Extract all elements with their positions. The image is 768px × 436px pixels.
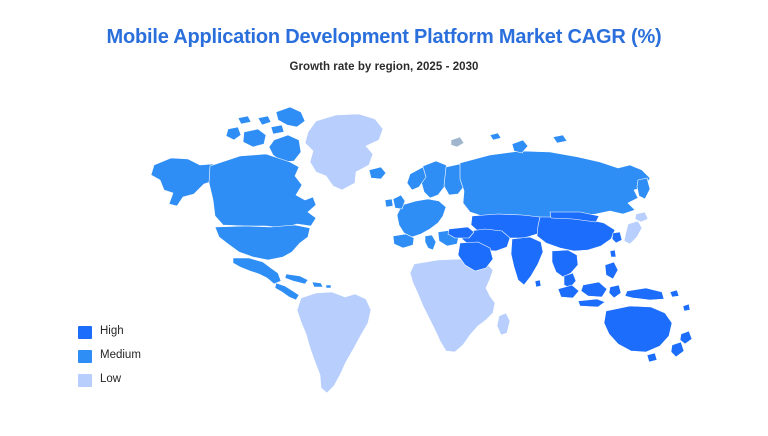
region-italy xyxy=(425,235,436,250)
map-legend: High Medium Low xyxy=(78,320,141,392)
region-arctic-islet-a xyxy=(258,116,271,125)
region-united-states xyxy=(215,225,310,260)
region-fiji-islets xyxy=(683,304,690,311)
region-tasmania xyxy=(647,353,657,362)
region-ireland xyxy=(385,199,393,207)
legend-item-medium[interactable]: Medium xyxy=(78,344,141,368)
region-japan xyxy=(624,221,642,244)
region-turkey xyxy=(448,227,474,238)
region-sri-lanka xyxy=(535,280,541,287)
region-india xyxy=(511,237,543,285)
region-arctic-islet-b xyxy=(238,116,251,124)
region-iberia xyxy=(393,234,414,248)
page-title: Mobile Application Development Platform … xyxy=(0,26,768,49)
region-borneo xyxy=(581,282,607,297)
region-southeast-asia xyxy=(552,250,578,277)
region-hokkaido xyxy=(635,212,648,222)
chart-canvas: Mobile Application Development Platform … xyxy=(0,0,768,436)
region-pacific-islets xyxy=(670,290,679,297)
region-severnaya-zemlya xyxy=(553,135,567,143)
region-australia xyxy=(604,306,672,352)
region-taiwan xyxy=(610,250,616,257)
region-new-zealand-north xyxy=(680,331,692,344)
region-south-america xyxy=(297,292,371,393)
region-greenland xyxy=(305,114,383,190)
legend-item-low[interactable]: Low xyxy=(78,368,141,392)
region-puerto-rico xyxy=(326,285,331,288)
legend-label-low: Low xyxy=(100,374,121,386)
legend-label-medium: Medium xyxy=(100,350,141,362)
region-sulawesi xyxy=(609,285,621,298)
legend-swatch-medium xyxy=(78,350,92,363)
region-iceland xyxy=(369,167,386,179)
region-new-guinea xyxy=(625,288,664,300)
region-hispaniola xyxy=(312,282,323,287)
legend-swatch-high xyxy=(78,326,92,339)
region-svalbard xyxy=(451,137,464,147)
region-madagascar xyxy=(497,313,510,335)
region-canada xyxy=(209,154,316,228)
region-new-zealand-south xyxy=(671,342,684,357)
region-africa xyxy=(410,259,495,352)
region-mexico xyxy=(233,258,281,284)
region-franz-josef-land xyxy=(490,133,501,140)
legend-label-high: High xyxy=(100,326,124,338)
page-subtitle: Growth rate by region, 2025 - 2030 xyxy=(0,61,768,73)
legend-item-high[interactable]: High xyxy=(78,320,141,344)
legend-swatch-low xyxy=(78,374,92,387)
region-korea xyxy=(612,232,622,243)
region-arctic-islet-c xyxy=(271,125,284,134)
region-russia xyxy=(460,151,650,220)
region-ellesmere xyxy=(276,107,305,127)
region-china xyxy=(537,217,615,251)
world-map-svg xyxy=(140,92,700,412)
world-choropleth-map xyxy=(140,92,700,412)
region-western-europe xyxy=(397,199,446,237)
region-java xyxy=(578,299,605,307)
region-central-america xyxy=(275,283,299,300)
region-cuba xyxy=(285,274,308,284)
region-victoria-island xyxy=(243,129,266,147)
region-sumatra xyxy=(558,285,579,298)
region-banks-island xyxy=(226,127,241,140)
region-kamchatka xyxy=(637,178,650,199)
region-philippines xyxy=(605,262,618,279)
